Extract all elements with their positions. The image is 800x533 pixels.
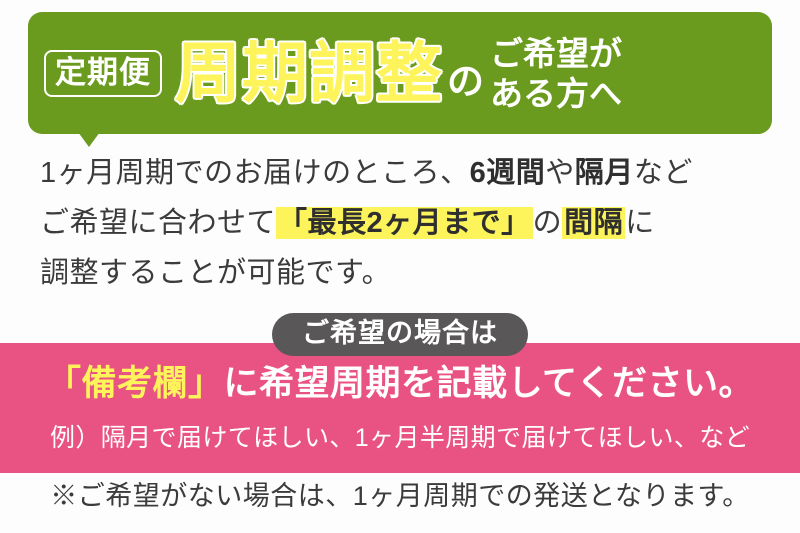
banner-headline: 周期調整 bbox=[175, 40, 443, 106]
body-line-3: 調整することが可能です。 bbox=[40, 248, 770, 298]
body-line1-emphasis-bimonthly: 隔月 bbox=[575, 157, 634, 189]
body-line1-part-a: 1ヶ月周期でのお届けのところ、 bbox=[40, 157, 470, 189]
banner-speech-tail bbox=[78, 132, 100, 147]
pink-remarks-field-label: 「備考欄」 bbox=[46, 364, 224, 403]
banner-particle: の bbox=[447, 63, 484, 100]
request-case-pill: ご希望の場合は bbox=[272, 313, 528, 356]
body-line-1: 1ヶ月周期でのお届けのところ、6週間や隔月など bbox=[40, 148, 770, 198]
promo-page: 定期便 周期調整 の ご希望が ある方へ 1ヶ月周期でのお届けのところ、6週間や… bbox=[0, 0, 800, 533]
body-line2-part-e: に bbox=[625, 207, 655, 239]
body-line2-highlight-interval: 間隔 bbox=[562, 207, 625, 239]
pink-callout-block bbox=[0, 343, 800, 473]
banner-subtext-line1: ご希望が bbox=[490, 35, 622, 72]
body-paragraph: 1ヶ月周期でのお届けのところ、6週間や隔月など ご希望に合わせて「最長2ヶ月まで… bbox=[40, 148, 770, 298]
body-line-2: ご希望に合わせて「最長2ヶ月まで」の間隔に bbox=[40, 198, 770, 248]
body-line2-part-c: の bbox=[533, 207, 563, 239]
pink-instruction: 「備考欄」に希望周期を記載してください。 bbox=[46, 366, 754, 401]
body-line1-part-c: や bbox=[545, 157, 575, 189]
subscription-badge: 定期便 bbox=[44, 50, 162, 97]
banner-subtext-line2: ある方へ bbox=[490, 75, 622, 112]
pink-instruction-part-b: に bbox=[224, 364, 260, 403]
body-line2-part-a: ご希望に合わせて bbox=[40, 207, 276, 239]
pink-instruction-part-d: を記載してください。 bbox=[401, 364, 754, 403]
pink-desired-cycle-label: 希望周期 bbox=[259, 364, 401, 403]
pink-example-text: 例）隔月で届けてほしい、1ヶ月半周期で届けてほしい、など bbox=[50, 426, 750, 451]
body-line1-emphasis-6weeks: 6週間 bbox=[470, 157, 546, 189]
footer-note: ※ご希望がない場合は、1ヶ月周期での発送となります。 bbox=[50, 483, 750, 510]
banner-subtext: ご希望が ある方へ bbox=[490, 34, 622, 115]
body-line2-highlight-maxtwomonths: 「最長2ヶ月まで」 bbox=[276, 207, 533, 239]
header-banner: 定期便 周期調整 の ご希望が ある方へ bbox=[28, 12, 772, 134]
body-line1-part-e: など bbox=[634, 157, 693, 189]
